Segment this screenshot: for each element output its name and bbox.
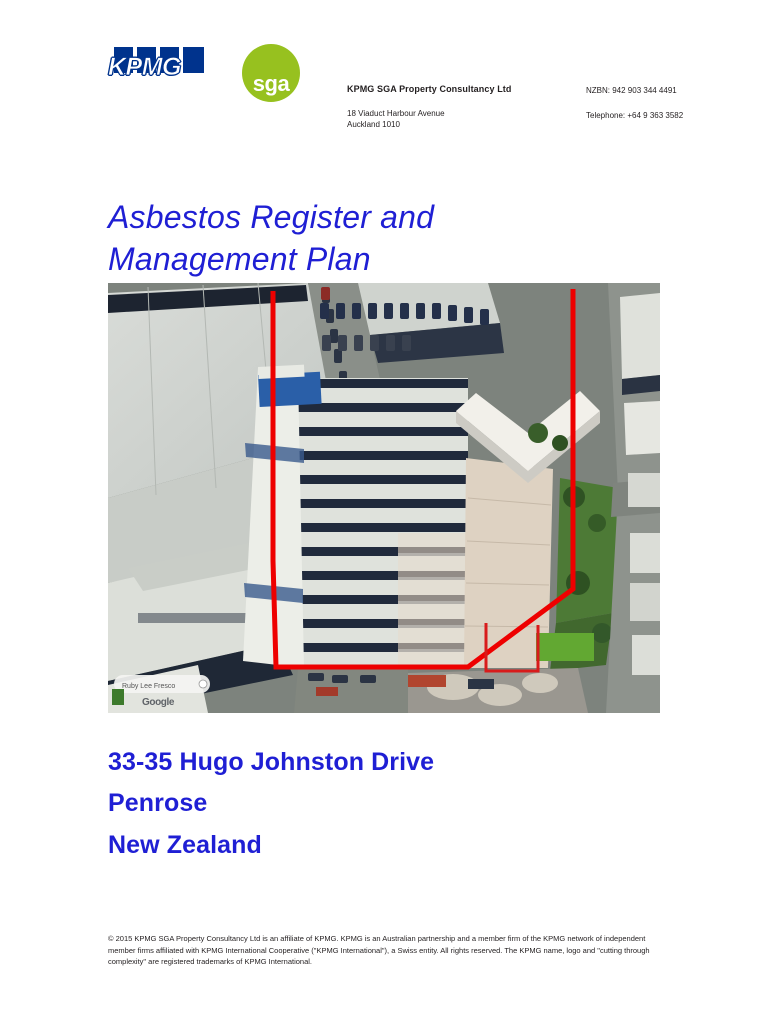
company-name: KPMG SGA Property Consultancy Ltd [347, 84, 567, 95]
page-title: Asbestos Register and Management Plan [108, 196, 628, 280]
page-title-line-1: Asbestos Register and [108, 199, 434, 235]
sga-logo: sga [242, 44, 300, 102]
address-line-2: Auckland 1010 [347, 120, 567, 131]
footer-copyright: © 2015 KPMG SGA Property Consultancy Ltd… [108, 933, 664, 968]
property-address-line-3: New Zealand [108, 825, 628, 866]
address-line-1: 18 Viaduct Harbour Avenue [347, 109, 567, 120]
page-title-line-2: Management Plan [108, 238, 628, 280]
aerial-photo-graphic: Ruby Lee Fresco Google [108, 283, 660, 713]
kpmg-logo: KPMG [108, 47, 204, 89]
kpmg-bar-4 [183, 47, 204, 73]
telephone-number: Telephone: +64 9 363 3582 [586, 111, 756, 122]
aerial-site-photo: Ruby Lee Fresco Google [108, 283, 660, 713]
property-address-line-2: Penrose [108, 783, 628, 824]
map-place-label: Ruby Lee Fresco [122, 683, 175, 690]
property-address: 33-35 Hugo Johnston Drive Penrose New Ze… [108, 742, 628, 866]
sga-wordmark: sga [242, 73, 300, 95]
kpmg-wordmark: KPMG [108, 55, 181, 80]
nzbn-number: NZBN: 942 903 344 4491 [586, 86, 756, 97]
company-identifiers-block: NZBN: 942 903 344 4491 Telephone: +64 9 … [586, 86, 756, 122]
google-attribution-label: Google [142, 697, 175, 708]
company-contact-block: KPMG SGA Property Consultancy Ltd 18 Via… [347, 84, 567, 130]
property-address-line-1: 33-35 Hugo Johnston Drive [108, 742, 628, 783]
